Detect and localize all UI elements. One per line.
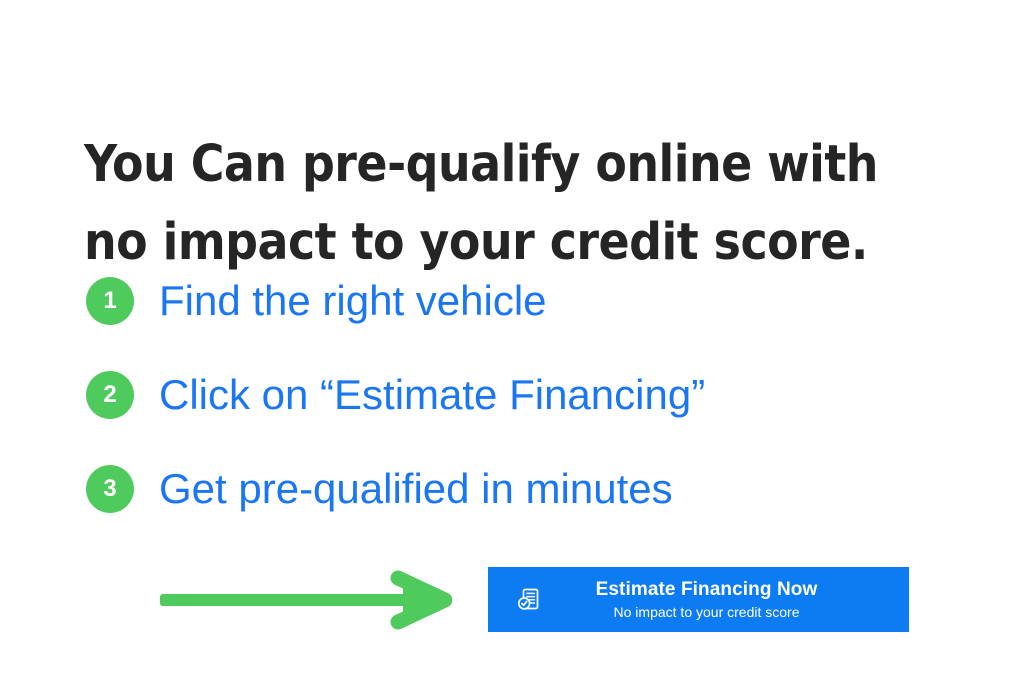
- headline-line-2: no impact to your credit score.: [84, 204, 964, 282]
- steps-list: 1 Find the right vehicle 2 Click on “Est…: [86, 277, 966, 559]
- document-check-icon: [514, 585, 544, 615]
- cta-subtitle: No impact to your credit score: [544, 602, 869, 622]
- step-number-badge: 2: [86, 371, 134, 419]
- promo-banner: You Can pre-qualify online with no impac…: [0, 0, 1024, 685]
- page-title: You Can pre-qualify online with no impac…: [84, 126, 964, 282]
- arrow-right-icon: [160, 570, 452, 630]
- list-item: 1 Find the right vehicle: [86, 277, 966, 325]
- headline-line-1: You Can pre-qualify online with: [84, 126, 964, 204]
- step-number-badge: 1: [86, 277, 134, 325]
- cta-title: Estimate Financing Now: [544, 578, 869, 602]
- step-number-badge: 3: [86, 465, 134, 513]
- cta-text-block: Estimate Financing Now No impact to your…: [544, 578, 895, 622]
- step-label: Find the right vehicle: [159, 277, 547, 325]
- list-item: 2 Click on “Estimate Financing”: [86, 371, 966, 419]
- list-item: 3 Get pre-qualified in minutes: [86, 465, 966, 513]
- step-label: Get pre-qualified in minutes: [159, 465, 673, 513]
- estimate-financing-button[interactable]: Estimate Financing Now No impact to your…: [488, 567, 909, 632]
- step-label: Click on “Estimate Financing”: [159, 371, 705, 419]
